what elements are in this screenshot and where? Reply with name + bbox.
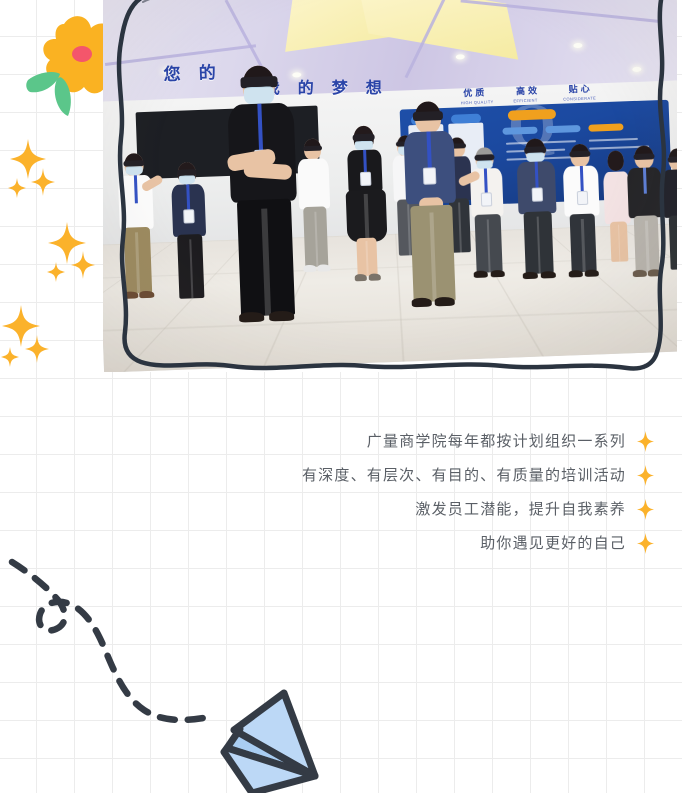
sparkle-star-icon [637,431,654,452]
sparkle-star-icon [1,139,95,367]
photo-vignette [103,0,677,372]
sparkle-star-icon [637,465,654,486]
caption-block: 广量商学院每年都按计划组织一系列 有深度、有层次、有目的、有质量的培训活动 激发… [94,424,654,560]
photo-clip-region: Q 优质 高效 贴心 [103,0,677,372]
caption-line: 广量商学院每年都按计划组织一系列 [94,424,654,458]
sparkle-star-icon [637,533,654,554]
caption-line-text: 激发员工潜能，提升自我素养 [415,492,626,526]
paper-plane-icon [224,693,315,793]
caption-line: 助你遇见更好的自己 [94,526,654,560]
photo-card: Q 优质 高效 贴心 [103,0,677,372]
sparkle-star-icon [637,499,654,520]
caption-line-text: 助你遇见更好的自己 [480,526,626,560]
dashed-flight-path [12,562,214,720]
caption-line: 有深度、有层次、有目的、有质量的培训活动 [94,458,654,492]
caption-line-text: 有深度、有层次、有目的、有质量的培训活动 [302,458,626,492]
photo-inner-rotated: Q 优质 高效 贴心 [103,0,677,372]
caption-line-text: 广量商学院每年都按计划组织一系列 [367,424,626,458]
caption-line: 激发员工潜能，提升自我素养 [94,492,654,526]
training-group-photo: Q 优质 高效 贴心 [103,0,677,372]
person-blue-polo-khaki [399,100,464,350]
sparkle-decoration-group [0,125,110,375]
paper-plane-decoration-group [2,548,350,793]
person-hero-black-polo [222,65,307,361]
